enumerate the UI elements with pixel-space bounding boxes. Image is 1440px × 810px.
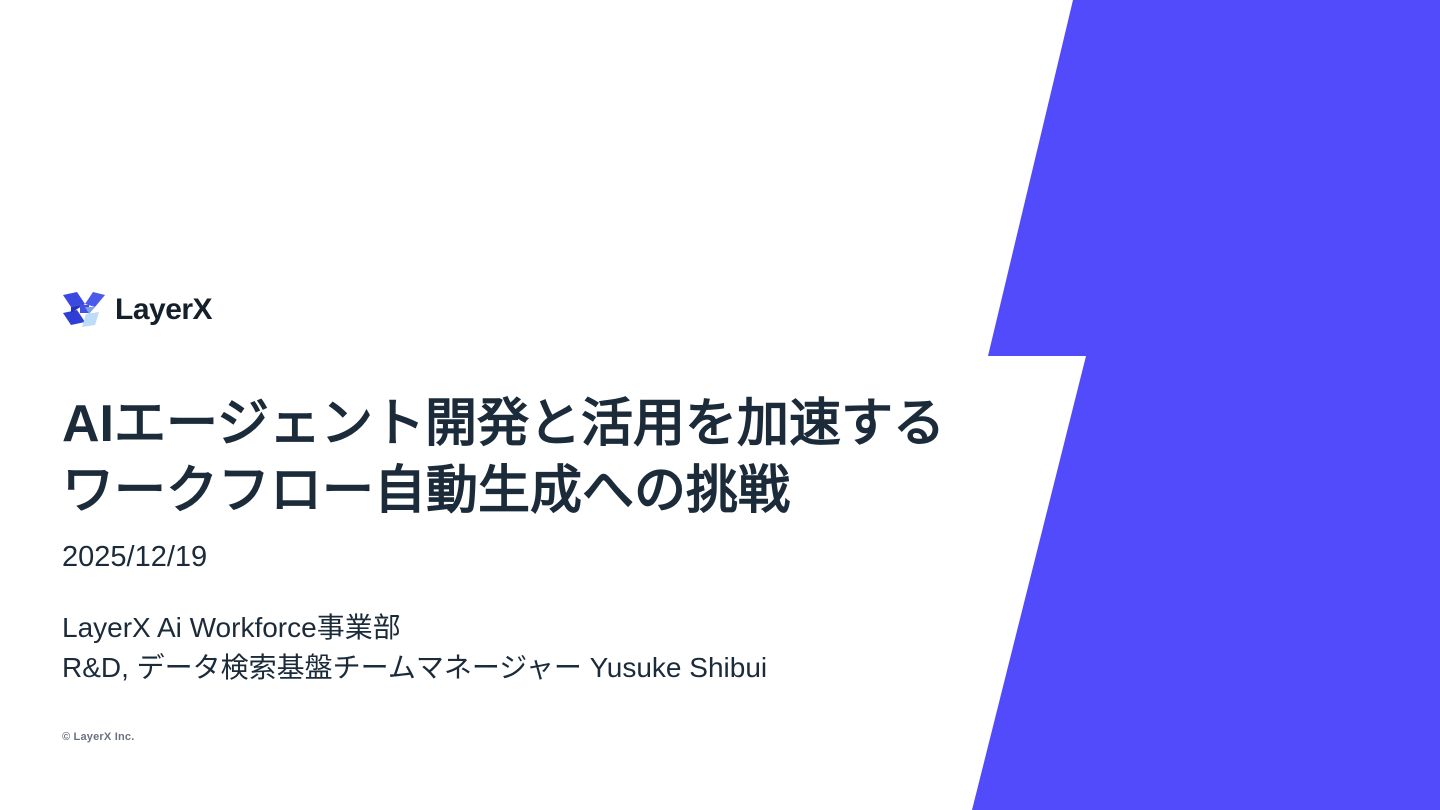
presenter-department: LayerX Ai Workforce事業部 xyxy=(62,608,767,648)
page-title-line-2: ワークフロー自動生成への挑戦 xyxy=(62,458,1072,526)
copyright-notice: © LayerX Inc. xyxy=(62,731,134,743)
page-title-line-1: AIエージェント開発と活用を加速する xyxy=(62,391,1072,459)
accent-shape-upper xyxy=(988,0,1440,356)
layerx-butterfly-mark xyxy=(62,291,106,329)
brand-wordmark: LayerX xyxy=(115,295,212,325)
page-title: AIエージェント開発と活用を加速する ワークフロー自動生成への挑戦 xyxy=(62,391,1072,526)
presenter-role-and-name: R&D, データ検索基盤チームマネージャー Yusuke Shibui xyxy=(62,648,767,688)
brand-logo: LayerX xyxy=(62,289,212,331)
presenter-info: LayerX Ai Workforce事業部 R&D, データ検索基盤チームマネ… xyxy=(62,608,767,688)
title-slide: LayerX AIエージェント開発と活用を加速する ワークフロー自動生成への挑戦… xyxy=(0,0,1440,810)
presentation-date: 2025/12/19 xyxy=(62,539,207,575)
